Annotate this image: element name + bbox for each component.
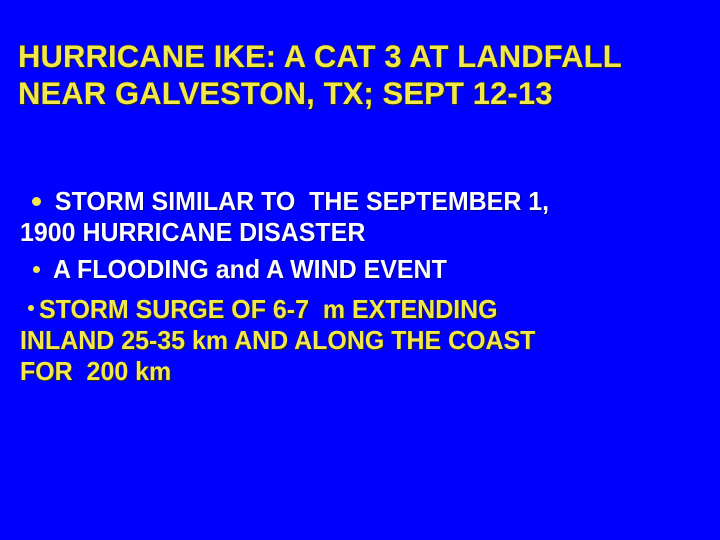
bullet-dot-icon: [33, 266, 40, 273]
bullet-item-2: A FLOODING and A WIND EVENT: [20, 254, 720, 285]
bullet-dot-icon: [28, 305, 34, 311]
bullet-dot-icon: [32, 197, 41, 206]
title-line-2: NEAR GALVESTON, TX; SEPT 12-13: [18, 75, 708, 112]
bullet-2-line-1: A FLOODING and A WIND EVENT: [47, 254, 447, 285]
title-line-1: HURRICANE IKE: A CAT 3 AT LANDFALL: [18, 38, 708, 75]
bullet-1-line-1: STORM SIMILAR TO THE SEPTEMBER 1,: [48, 186, 549, 217]
slide-body: STORM SIMILAR TO THE SEPTEMBER 1, 1900 H…: [20, 186, 720, 389]
bullet-item-3: STORM SURGE OF 6-7 m EXTENDING INLAND 25…: [20, 294, 720, 387]
bullet-3-line-2: INLAND 25-35 km AND ALONG THE COAST: [20, 325, 692, 356]
bullet-3-line-3: FOR 200 km: [20, 356, 692, 387]
slide-title: HURRICANE IKE: A CAT 3 AT LANDFALL NEAR …: [18, 38, 718, 112]
bullet-3-line-1: STORM SURGE OF 6-7 m EXTENDING: [39, 294, 498, 325]
presentation-slide: HURRICANE IKE: A CAT 3 AT LANDFALL NEAR …: [0, 0, 720, 540]
bullet-1-line-2: 1900 HURRICANE DISASTER: [20, 217, 692, 248]
bullet-item-1: STORM SIMILAR TO THE SEPTEMBER 1, 1900 H…: [20, 186, 720, 248]
